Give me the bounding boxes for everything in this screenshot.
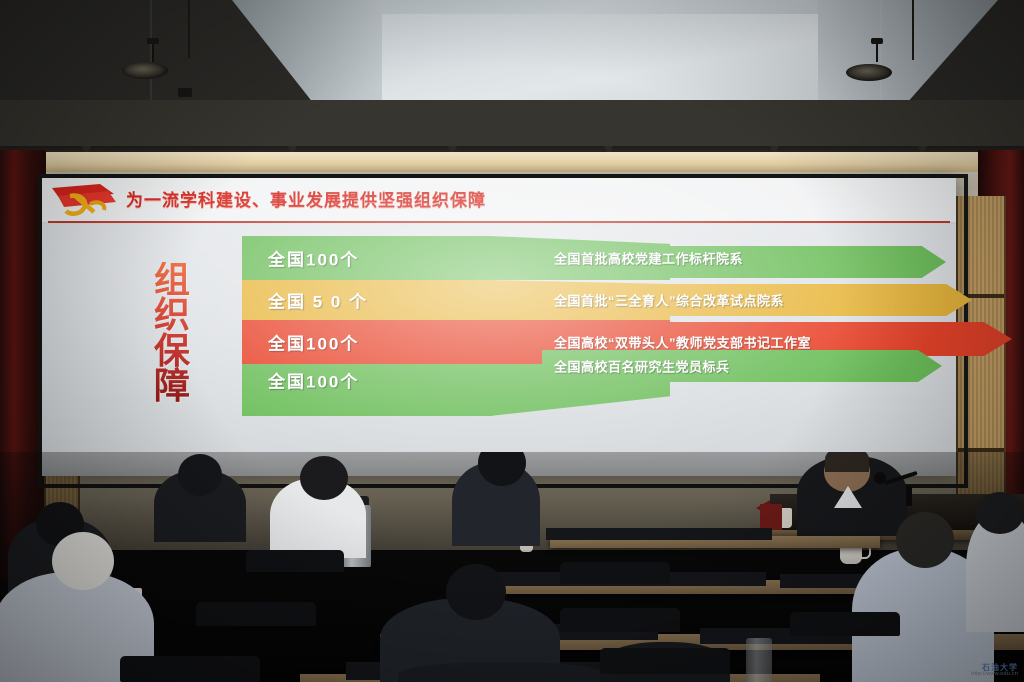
audience-body <box>398 662 608 682</box>
audience-head <box>178 454 222 496</box>
slide-header: 为一流学科建设、事业发展提供坚强组织保障 <box>42 178 956 222</box>
slide-title-rule <box>48 221 950 223</box>
foreground-room: 石油大学 http://www.edu.cn <box>0 452 1024 682</box>
chart-row-label: 全国高校“双带头人”教师党支部书记工作室 <box>554 333 811 352</box>
watermark: 石油大学 http://www.edu.cn <box>971 664 1018 678</box>
slide-title: 为一流学科建设、事业发展提供坚强组织保障 <box>126 186 486 211</box>
chair <box>560 562 670 584</box>
chair <box>790 612 900 636</box>
ceiling-panel-inner <box>352 14 848 108</box>
audience-head <box>446 564 506 620</box>
projection-screen: 为一流学科建设、事业发展提供坚强组织保障 组织保障 全国100个 全国首批高校党… <box>42 178 956 476</box>
downlight-icon <box>846 64 892 81</box>
chart-row-quantity: 全国 5 0 个 <box>268 288 368 313</box>
chair <box>560 608 680 632</box>
desk-front <box>546 528 772 540</box>
audience-head <box>896 512 954 568</box>
chart-row: 全国100个 全国高校百名研究生党员标兵 <box>242 364 942 416</box>
chair <box>246 550 344 572</box>
audience-head <box>52 532 114 590</box>
funnel-chart: 全国100个 全国首批高校党建工作标杆院系 全国 5 0 个 全国首批“三全育人… <box>242 236 942 468</box>
folder-red <box>760 504 782 530</box>
thermos-flask <box>746 638 772 682</box>
chart-row: 全国100个 全国首批高校党建工作标杆院系 <box>242 236 942 280</box>
chart-row-label: 全国首批“三全育人”综合改革试点院系 <box>554 291 784 310</box>
chair <box>120 656 260 682</box>
ceiling-sensor <box>178 88 192 97</box>
party-flag-emblem-icon <box>50 182 124 220</box>
audience-head <box>976 492 1024 534</box>
microphone-head-icon <box>874 472 886 484</box>
slide-body: 组织保障 全国100个 全国首批高校党建工作标杆院系 全国 5 0 个 全国首 <box>42 224 956 476</box>
ceiling-light-panel <box>330 0 870 106</box>
chart-row-quantity: 全国100个 <box>268 367 359 392</box>
chart-row-label: 全国高校百名研究生党员标兵 <box>554 356 730 375</box>
screenshot-stage: 为一流学科建设、事业发展提供坚强组织保障 组织保障 全国100个 全国首批高校党… <box>0 0 1024 682</box>
chart-row-quantity: 全国100个 <box>268 246 359 271</box>
chair <box>196 602 316 626</box>
presenter-hair <box>825 452 869 472</box>
microphone-stand <box>906 486 912 506</box>
ceiling <box>0 0 1024 150</box>
ceiling-band <box>0 100 1024 152</box>
audience-head <box>300 456 348 500</box>
chart-row-quantity: 全国100个 <box>268 330 359 355</box>
slide-vertical-label: 组织保障 <box>146 262 198 403</box>
chart-row-label: 全国首批高校党建工作标杆院系 <box>554 249 743 268</box>
watermark-url: http://www.edu.cn <box>971 672 1018 678</box>
chart-row: 全国 5 0 个 全国首批“三全育人”综合改革试点院系 <box>242 280 942 320</box>
ceiling-seam <box>880 0 882 104</box>
downlight-icon <box>122 62 168 79</box>
cove-light-soffit <box>0 152 1024 174</box>
chair <box>600 648 730 674</box>
